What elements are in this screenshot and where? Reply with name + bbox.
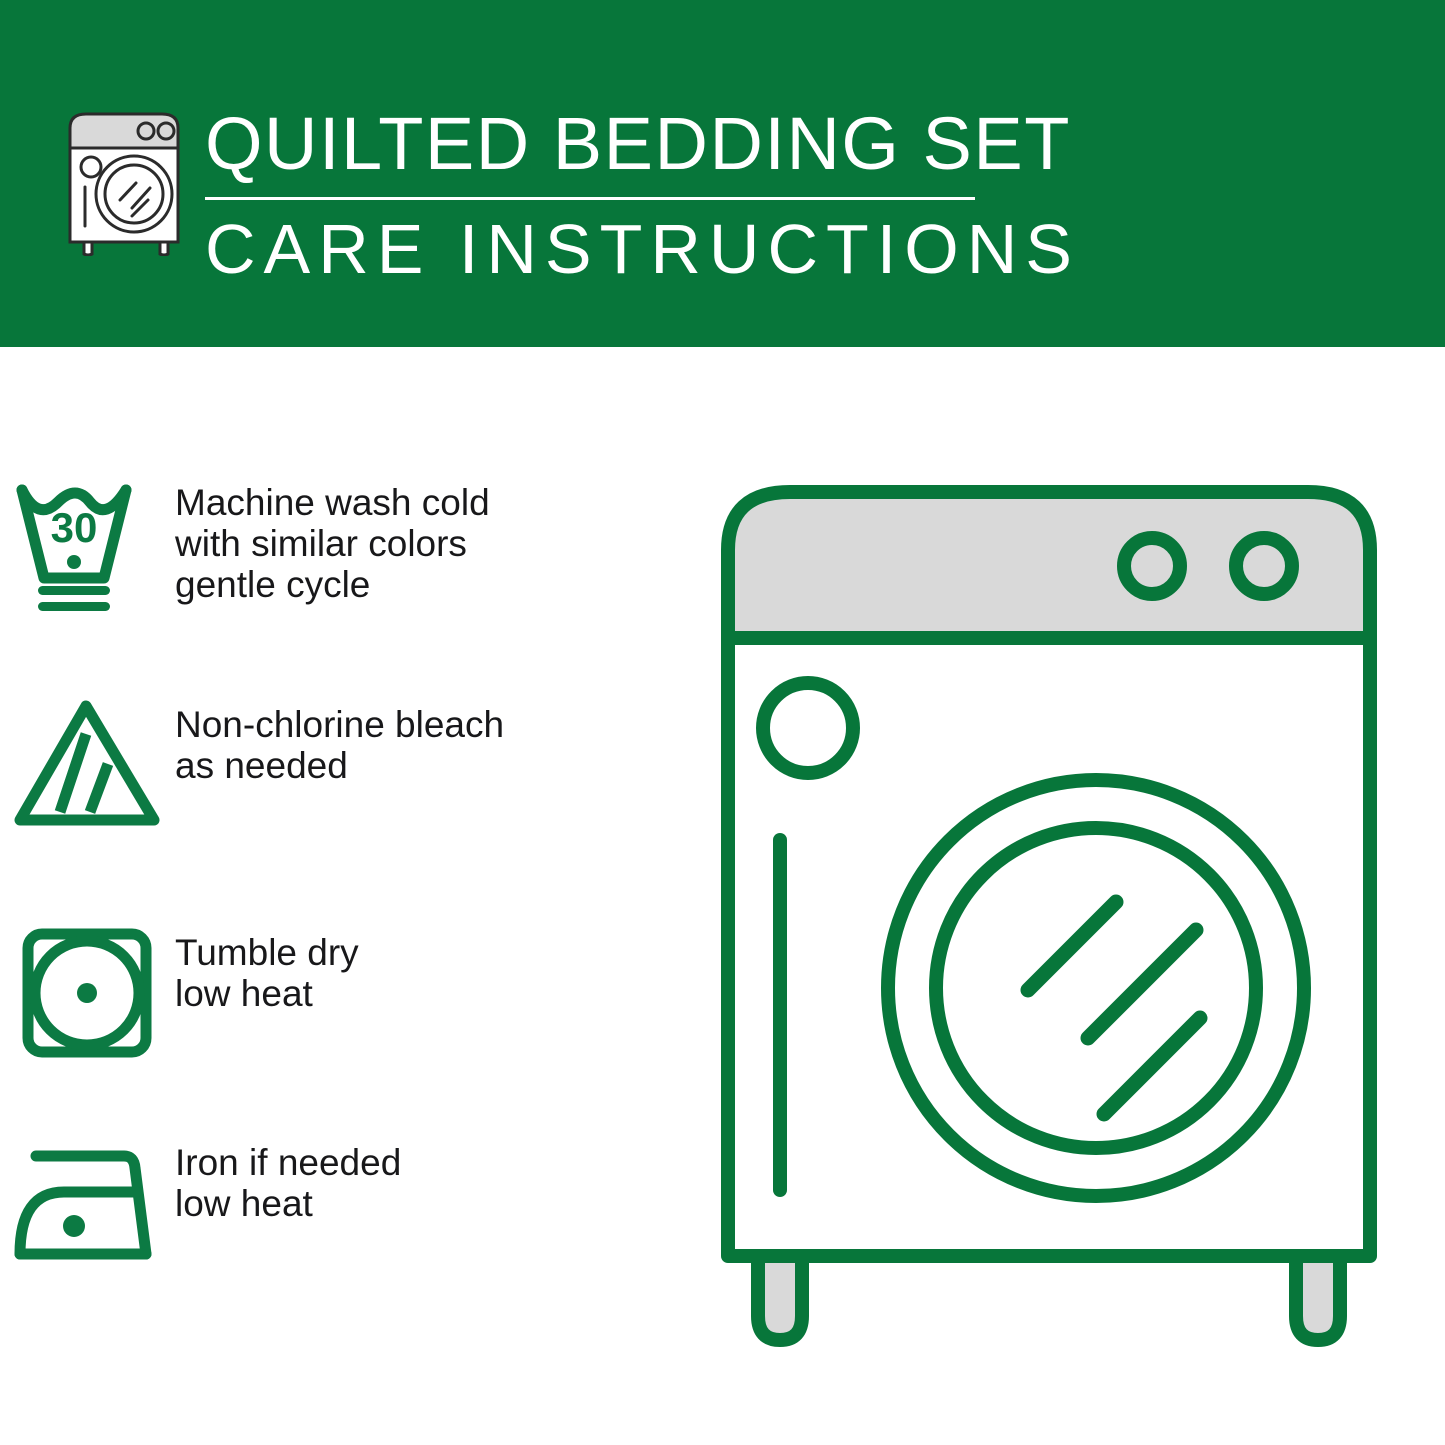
washing-machine-icon — [62, 104, 194, 256]
care-text-line: with similar colors — [175, 523, 490, 564]
care-instructions-page: QUILTED BEDDING SET CARE INSTRUCTIONS 30 — [0, 0, 1445, 1445]
care-text-machine-wash: Machine wash cold with similar colors ge… — [175, 470, 490, 605]
control-panel — [728, 492, 1370, 638]
tumble-dry-low-icon — [0, 920, 175, 1070]
iron-low-heat-icon — [0, 1130, 175, 1280]
care-text-iron: Iron if needed low heat — [175, 1130, 401, 1224]
machine-body — [728, 638, 1370, 1256]
care-row-bleach: Non-chlorine bleach as needed — [0, 692, 700, 842]
page-subtitle: CARE INSTRUCTIONS — [205, 209, 995, 289]
care-text-bleach: Non-chlorine bleach as needed — [175, 692, 504, 786]
care-text-line: gentle cycle — [175, 564, 490, 605]
care-text-line: Iron if needed — [175, 1142, 401, 1183]
wash-temperature-label: 30 — [50, 504, 97, 551]
care-text-line: Tumble dry — [175, 932, 359, 973]
page-title: QUILTED BEDDING SET — [205, 102, 995, 186]
non-chlorine-bleach-icon — [0, 692, 175, 842]
header-band: QUILTED BEDDING SET CARE INSTRUCTIONS — [0, 0, 1445, 347]
care-row-tumble-dry: Tumble dry low heat — [0, 920, 700, 1070]
title-divider — [205, 197, 975, 200]
washing-machine-illustration — [718, 478, 1408, 1368]
care-row-iron: Iron if needed low heat — [0, 1130, 700, 1280]
machine-wash-30-gentle-icon: 30 — [0, 470, 175, 620]
header-text-block: QUILTED BEDDING SET CARE INSTRUCTIONS — [205, 102, 995, 289]
care-text-line: low heat — [175, 1183, 401, 1224]
care-text-line: Machine wash cold — [175, 482, 490, 523]
care-row-machine-wash: 30 Machine wash cold with similar colors… — [0, 470, 700, 620]
care-text-line: as needed — [175, 745, 504, 786]
care-text-line: Non-chlorine bleach — [175, 704, 504, 745]
care-text-tumble-dry: Tumble dry low heat — [175, 920, 359, 1014]
care-text-line: low heat — [175, 973, 359, 1014]
